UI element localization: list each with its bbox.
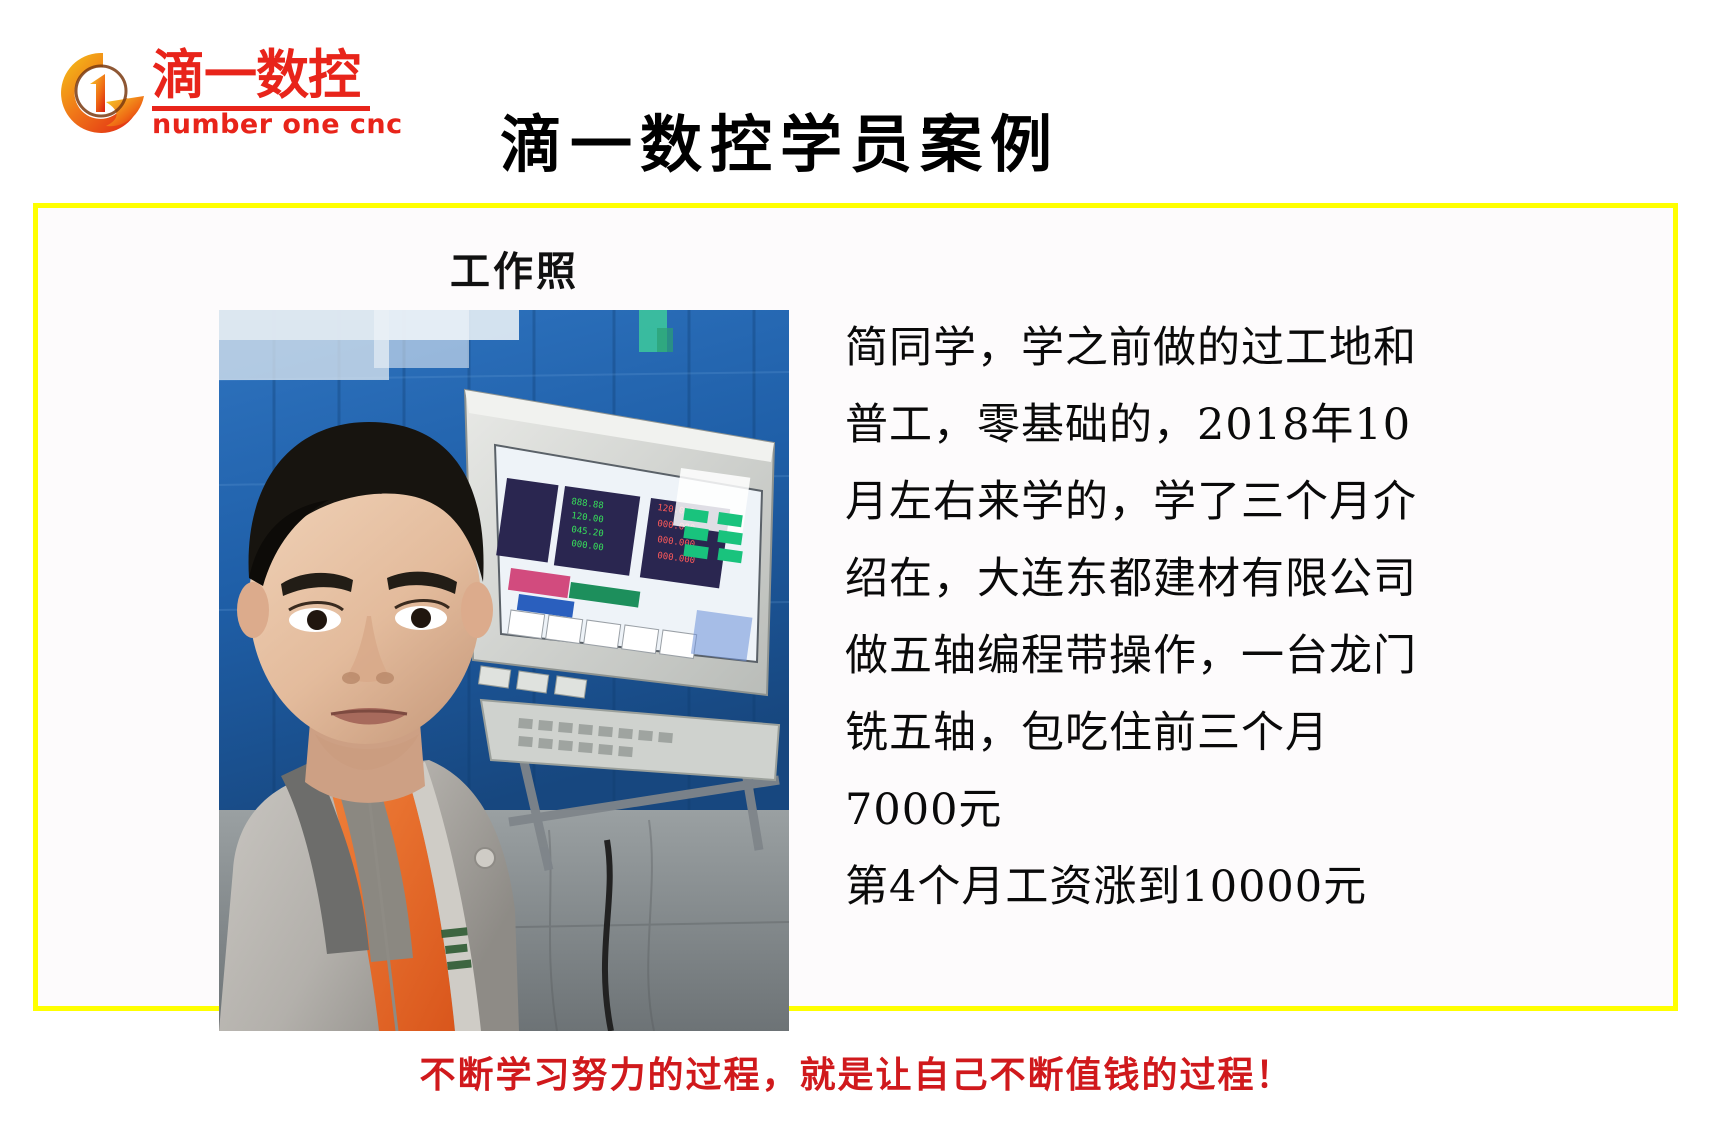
footer-slogan: 不断学习努力的过程，就是让自己不断值钱的过程！ (0, 1050, 1713, 1100)
page-title: 滴一数控学员案例 (430, 108, 1130, 182)
testimonial-line: 做五轴编程带操作，一台龙门 (845, 618, 1525, 695)
testimonial-line: 铣五轴，包吃住前三个月 (845, 695, 1525, 772)
testimonial-line: 月左右来学的，学了三个月介 (845, 464, 1525, 541)
number-one-swoosh-logo-icon (60, 50, 146, 136)
brand-logo: 滴一数控 number one cnc (60, 44, 370, 144)
slide-canvas: 滴一数控 number one cnc 滴一数控学员案例 工作照 (0, 0, 1713, 1132)
photo-caption-label: 工作照 (450, 248, 579, 296)
testimonial-line: 简同学，学之前做的过工地和 (845, 310, 1525, 387)
brand-wordmark: 滴一数控 number one cnc (152, 46, 370, 142)
testimonial-line: 第4个月工资涨到10000元 (845, 849, 1525, 926)
brand-name-chinese: 滴一数控 (152, 46, 370, 108)
work-photo: 888.88 120.00 045.20 000.00 120.000 000.… (219, 310, 789, 1031)
testimonial-line: 绍在，大连东都建材有限公司 (845, 541, 1525, 618)
testimonial-text: 简同学，学之前做的过工地和 普工，零基础的，2018年10 月左右来学的，学了三… (845, 310, 1525, 926)
testimonial-line: 普工，零基础的，2018年10 (845, 387, 1525, 464)
testimonial-line: 7000元 (845, 772, 1525, 849)
brand-name-english: number one cnc (152, 110, 370, 140)
